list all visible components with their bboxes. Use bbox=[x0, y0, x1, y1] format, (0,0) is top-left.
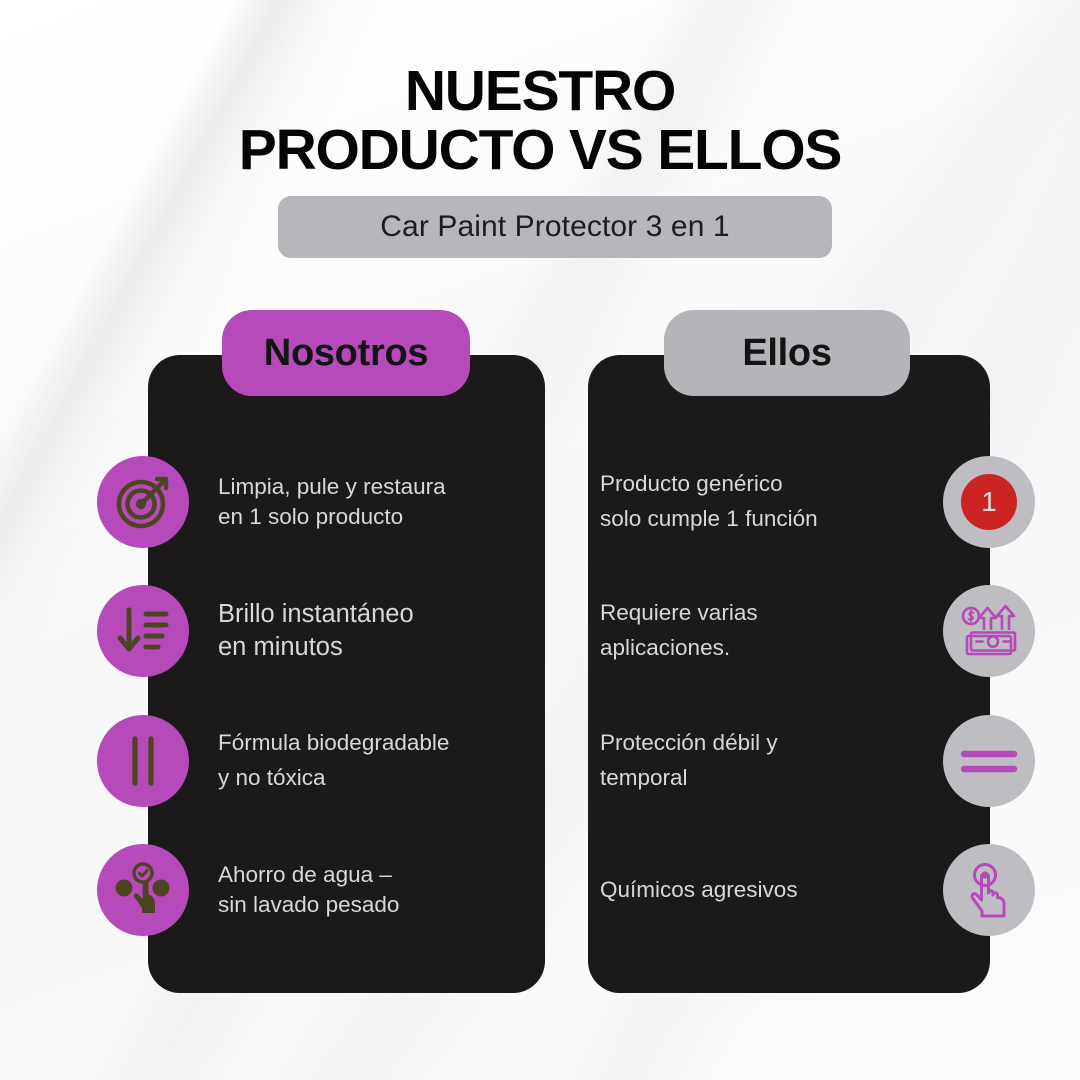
pause-bars-icon bbox=[97, 715, 189, 807]
list-item: Limpia, pule y restaura en 1 solo produc… bbox=[97, 456, 547, 548]
list-item: Fórmula biodegradable y no tóxica bbox=[97, 715, 547, 807]
number-one-badge-icon: 1 bbox=[943, 456, 1035, 548]
list-item: Brillo instantáneo en minutos bbox=[97, 585, 547, 677]
list-item: Protección débil y temporal bbox=[600, 715, 1035, 807]
list-item-label: Limpia, pule y restaura en 1 solo produc… bbox=[218, 472, 446, 532]
list-item: Químicos agresivos bbox=[600, 844, 1035, 936]
subtitle-pill: Car Paint Protector 3 en 1 bbox=[278, 196, 832, 258]
badge-number: 1 bbox=[961, 474, 1017, 530]
list-item: Producto genérico solo cumple 1 función … bbox=[600, 456, 1035, 548]
list-item-label: Brillo instantáneo en minutos bbox=[218, 598, 414, 664]
equals-sign-icon bbox=[943, 715, 1035, 807]
tap-hand-icon bbox=[943, 844, 1035, 936]
list-item: Ahorro de agua – sin lavado pesado bbox=[97, 844, 547, 936]
target-arrow-icon bbox=[97, 456, 189, 548]
list-item-label: Fórmula biodegradable y no tóxica bbox=[218, 726, 449, 796]
choice-hand-icon bbox=[97, 844, 189, 936]
money-cost-increase-icon bbox=[943, 585, 1035, 677]
infographic-canvas: NUESTRO PRODUCTO VS ELLOS Car Paint Prot… bbox=[0, 0, 1080, 1080]
sort-descending-icon bbox=[97, 585, 189, 677]
list-item-label: Requiere varias aplicaciones. bbox=[600, 596, 915, 666]
list-item: Requiere varias aplicaciones. bbox=[600, 585, 1035, 677]
list-item-label: Ahorro de agua – sin lavado pesado bbox=[218, 860, 399, 920]
list-item-label: Protección débil y temporal bbox=[600, 726, 915, 796]
column-header-us: Nosotros bbox=[222, 310, 470, 396]
subtitle-text: Car Paint Protector 3 en 1 bbox=[380, 210, 729, 244]
list-item-label: Producto genérico solo cumple 1 función bbox=[600, 467, 915, 537]
page-title: NUESTRO PRODUCTO VS ELLOS bbox=[0, 62, 1080, 179]
column-label-us: Nosotros bbox=[264, 332, 428, 375]
column-header-them: Ellos bbox=[664, 310, 910, 396]
column-label-them: Ellos bbox=[742, 332, 831, 375]
list-item-label: Químicos agresivos bbox=[600, 873, 915, 906]
